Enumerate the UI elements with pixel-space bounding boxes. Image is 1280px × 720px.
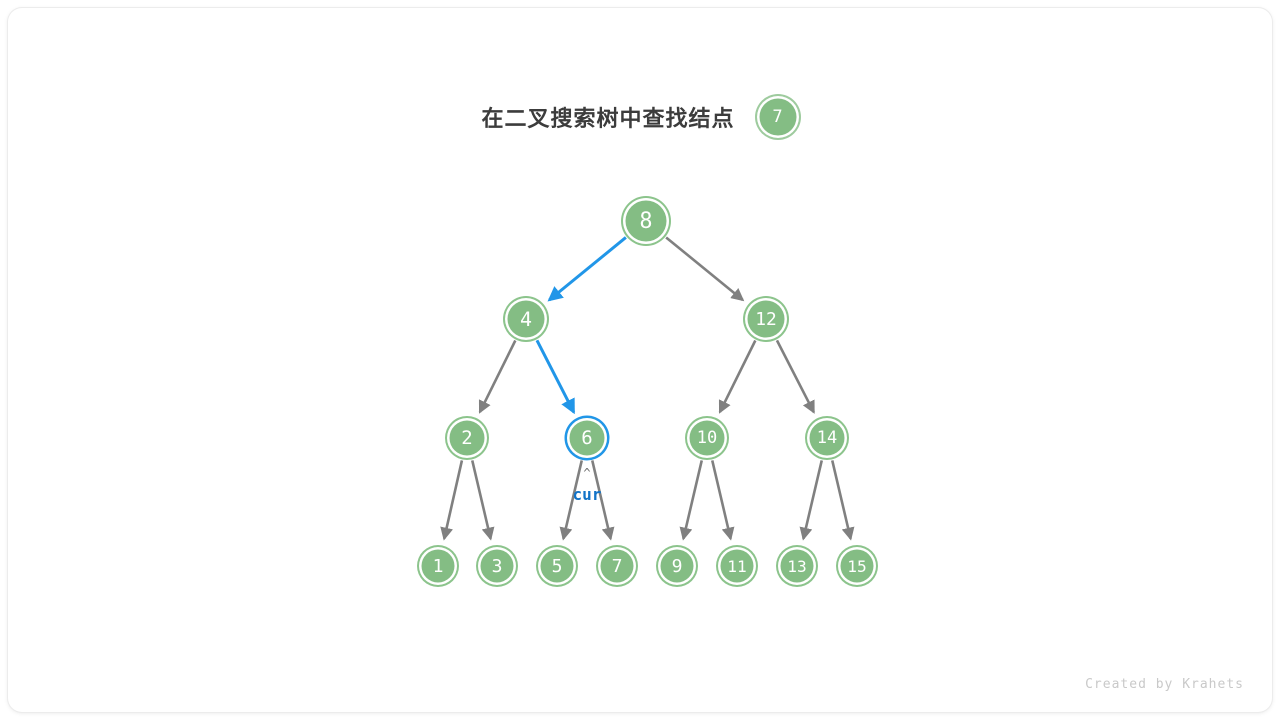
tree-edge (712, 460, 730, 538)
tree-edge (720, 341, 755, 413)
tree-node-13: 13 (778, 547, 816, 585)
tree-node-11: 11 (718, 547, 756, 585)
tree-edge (777, 340, 814, 412)
tree-edge (832, 460, 850, 538)
tree-node-15: 15 (838, 547, 876, 585)
tree-node-3: 3 (478, 547, 516, 585)
tree-edge (537, 340, 574, 412)
tree-node-2: 2 (447, 418, 487, 458)
tree-node-7: 7 (598, 547, 636, 585)
tree-node-14: 14 (807, 418, 847, 458)
tree-edge (480, 341, 515, 413)
tree-node-8: 8 (623, 198, 669, 244)
tree-edge (563, 460, 581, 538)
tree-edge (549, 237, 626, 300)
tree-node-9: 9 (658, 547, 696, 585)
footer-credit: Created by Krahets (1085, 677, 1244, 692)
tree-node-6: 6 (567, 418, 607, 458)
tree-edge (444, 460, 462, 538)
tree-node-1: 1 (419, 547, 457, 585)
tree-edge (803, 460, 821, 538)
tree-edge (592, 460, 610, 538)
tree-edge (666, 237, 743, 300)
tree-node-12: 12 (745, 298, 787, 340)
tree-node-4: 4 (505, 298, 547, 340)
tree-node-10: 10 (687, 418, 727, 458)
tree-diagram-canvas (8, 8, 1272, 712)
tree-edge (683, 460, 701, 538)
tree-node-5: 5 (538, 547, 576, 585)
illustration-card: 在二叉搜索树中查找结点 7 841226101413579111315 ^ cu… (8, 8, 1272, 712)
tree-edge (472, 460, 490, 538)
screenshot-root: 在二叉搜索树中查找结点 7 841226101413579111315 ^ cu… (0, 0, 1280, 720)
